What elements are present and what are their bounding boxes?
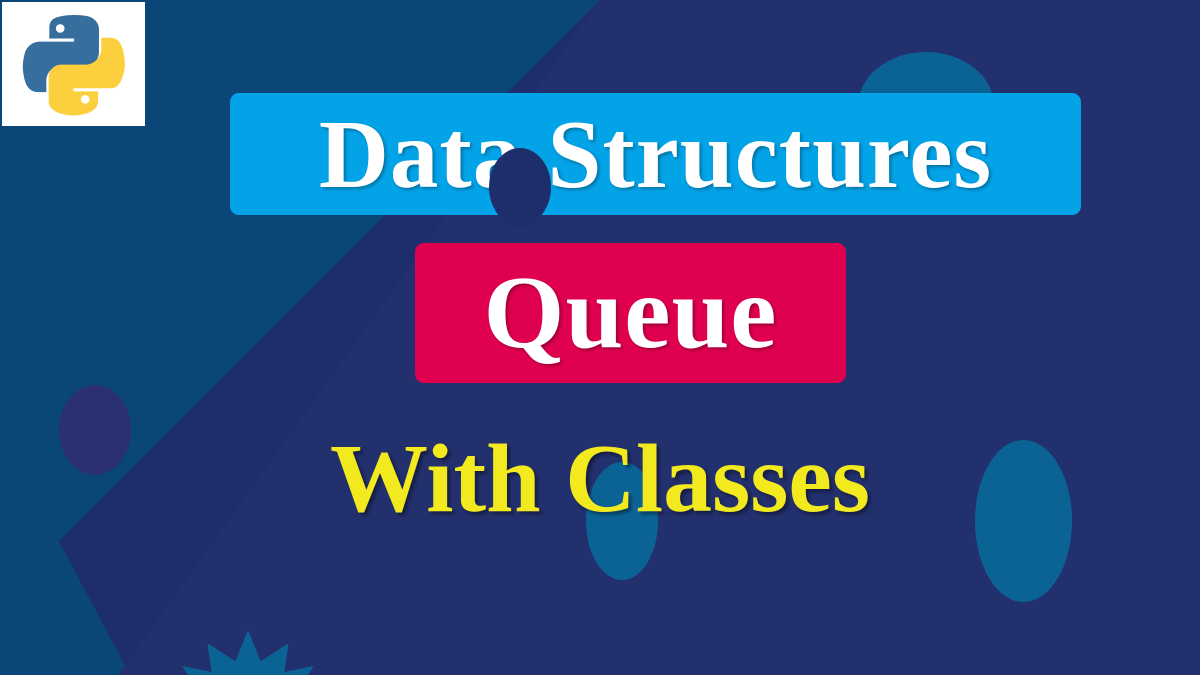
title-banner-secondary: Queue xyxy=(415,243,846,383)
navy-ellipse-title-overlay xyxy=(489,148,551,226)
page-title: Data Structures xyxy=(319,106,992,203)
python-logo-icon xyxy=(15,12,133,116)
python-logo-badge xyxy=(2,2,145,126)
page-tagline: With Classes xyxy=(330,430,870,528)
thumbnail-canvas: Data Structures Queue With Classes xyxy=(0,0,1200,675)
page-subtitle: Queue xyxy=(484,261,778,365)
title-tertiary-wrap: With Classes xyxy=(0,424,1200,534)
title-banner-primary: Data Structures xyxy=(230,93,1081,215)
